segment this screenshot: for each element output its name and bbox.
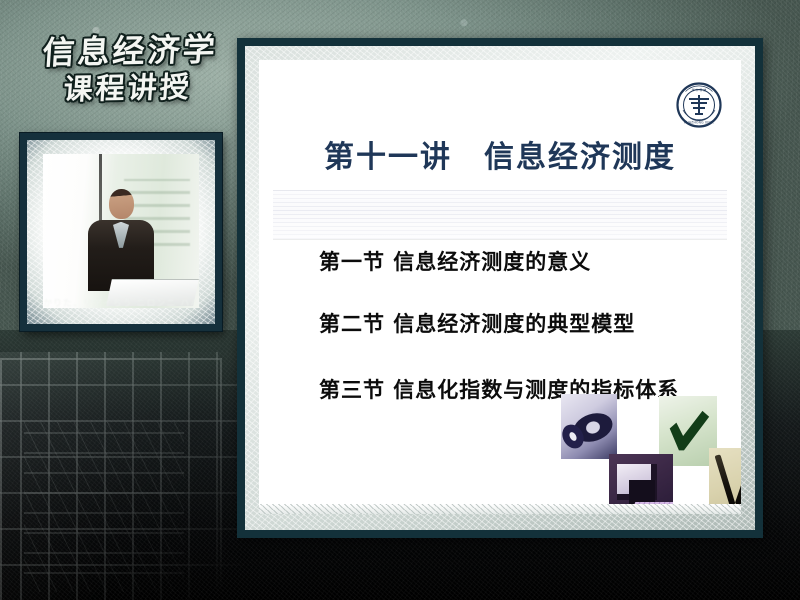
monitor-icon [617, 464, 657, 500]
svg-text:华 中 科 技: 华 中 科 技 [692, 87, 707, 92]
video-caption: かりた、リアイちう ニロンニ ハハニョ [43, 296, 199, 308]
section-list: 第一节 信息经济测度的意义 第二节 信息经济测度的典型模型 第三节 信息化指数与… [319, 246, 721, 404]
slide-title: 第十一讲 信息经济测度 [259, 132, 741, 176]
slide-page: 华 中 科 技 HUAZHONG UNIV. 第十一讲 信息经济测度 第一节 信… [259, 60, 741, 514]
decorative-image-tiles [561, 394, 741, 514]
ring-photo-tile [561, 394, 617, 459]
slide-bottom-edge [259, 504, 741, 514]
pen-icon-left [715, 454, 736, 505]
monitor-screen [629, 480, 655, 504]
section-item-2: 第二节 信息经济测度的典型模型 [319, 308, 721, 338]
checkmark-icon [668, 410, 710, 452]
svg-text:HUAZHONG UNIV.: HUAZHONG UNIV. [684, 121, 714, 125]
title-decorative-band [273, 190, 727, 240]
video-viewport: かりた、リアイちう ニロンニ ハハニョ [43, 154, 199, 308]
blueprint-pattern-overlay [0, 352, 244, 600]
lecture-video-panel[interactable]: かりた、リアイちう ニロンニ ハハニョ [20, 133, 222, 331]
section-item-1: 第一节 信息经济测度的意义 [319, 246, 721, 276]
presentation-stage: 信息经济学 课程讲授 かりた、リアイちう ニロンニ ハハニョ [0, 0, 800, 600]
university-logo-icon: 华 中 科 技 HUAZHONG UNIV. [676, 82, 722, 128]
pen-icon-right [735, 454, 741, 505]
slide-frame[interactable]: 华 中 科 技 HUAZHONG UNIV. 第十一讲 信息经济测度 第一节 信… [237, 38, 763, 538]
lecturer-head [109, 189, 134, 219]
